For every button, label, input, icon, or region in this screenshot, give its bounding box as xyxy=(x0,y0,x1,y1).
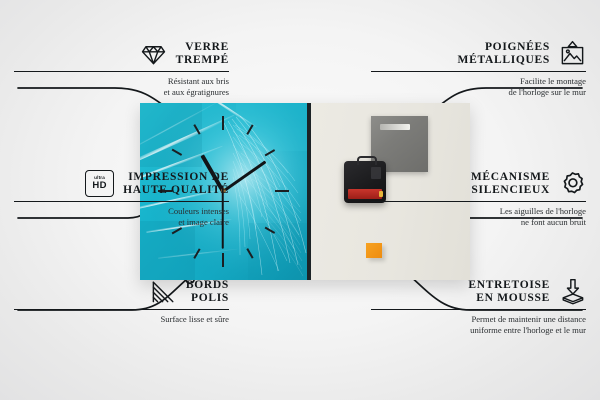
foam-spacer xyxy=(366,243,382,258)
callout-subtitle-2: uniforme entre l'horloge et le mur xyxy=(371,325,586,336)
callout-title-2: SILENCIEUX xyxy=(471,184,550,197)
callout-title: IMPRESSION DE xyxy=(123,171,229,184)
callout-rule xyxy=(14,201,229,202)
callout-entretoise-en-mousse: ENTRETOISE EN MOUSSE Permet de maintenir… xyxy=(371,278,586,335)
callout-title-2: MÉTALLIQUES xyxy=(458,54,550,67)
callout-rule xyxy=(371,309,586,310)
callout-title: ENTRETOISE xyxy=(468,279,550,292)
callout-subtitle-2: de l'horloge sur le mur xyxy=(371,87,586,98)
callout-subtitle: Couleurs intenses xyxy=(14,206,229,217)
callout-rule xyxy=(371,201,586,202)
callout-subtitle: Les aiguilles de l'horloge xyxy=(371,206,586,217)
callout-title: POIGNÉES xyxy=(458,41,550,54)
callout-subtitle: Surface lisse et sûre xyxy=(14,314,229,325)
diamond-icon xyxy=(140,40,167,67)
callout-poignees-metalliques: POIGNÉES MÉTALLIQUES Facilite le montage… xyxy=(371,40,586,97)
movement-hanging-tab xyxy=(357,156,377,165)
ultra-hd-icon-main-label: HD xyxy=(92,181,106,191)
callout-rule xyxy=(14,71,229,72)
gear-icon xyxy=(559,170,586,197)
plate-slot xyxy=(380,124,410,130)
callout-title: BORDS xyxy=(186,279,229,292)
callout-bords-polis: BORDS POLIS Surface lisse et sûre xyxy=(14,278,229,325)
callout-title: VERRE xyxy=(176,41,229,54)
callout-title-2: TREMPÉ xyxy=(176,54,229,67)
callout-verre-trempe: VERRE TREMPÉ Résistant aux bris et aux é… xyxy=(14,40,229,97)
clock-tick-3 xyxy=(275,190,289,192)
callout-subtitle: Permet de maintenir une distance xyxy=(371,314,586,325)
infographic-stage: VERRE TREMPÉ Résistant aux bris et aux é… xyxy=(0,0,600,400)
clock-tick-12 xyxy=(222,116,224,130)
ultra-hd-icon: ultra HD xyxy=(85,170,114,197)
callout-rule xyxy=(14,309,229,310)
callout-mecanisme-silencieux: MÉCANISME SILENCIEUX Les aiguilles de l'… xyxy=(371,170,586,227)
callout-subtitle-2: ne font aucun bruit xyxy=(371,217,586,228)
clock-tick-6 xyxy=(222,253,224,267)
callout-title-2: HAUTE QUALITÉ xyxy=(123,184,229,197)
callout-subtitle: Facilite le montage xyxy=(371,76,586,87)
callout-title-2: POLIS xyxy=(186,292,229,305)
callout-subtitle-2: et image claire xyxy=(14,217,229,228)
callout-title: MÉCANISME xyxy=(471,171,550,184)
callout-title-2: EN MOUSSE xyxy=(468,292,550,305)
picture-frame-hanger-icon xyxy=(559,40,586,67)
callout-impression-haute-qualite: ultra HD IMPRESSION DE HAUTE QUALITÉ Cou… xyxy=(14,170,229,227)
callout-subtitle-2: et aux égratignures xyxy=(14,87,229,98)
callout-subtitle: Résistant aux bris xyxy=(14,76,229,87)
polished-edge-icon xyxy=(150,278,177,305)
callout-rule xyxy=(371,71,586,72)
foam-spacer-arrow-icon xyxy=(559,278,586,305)
